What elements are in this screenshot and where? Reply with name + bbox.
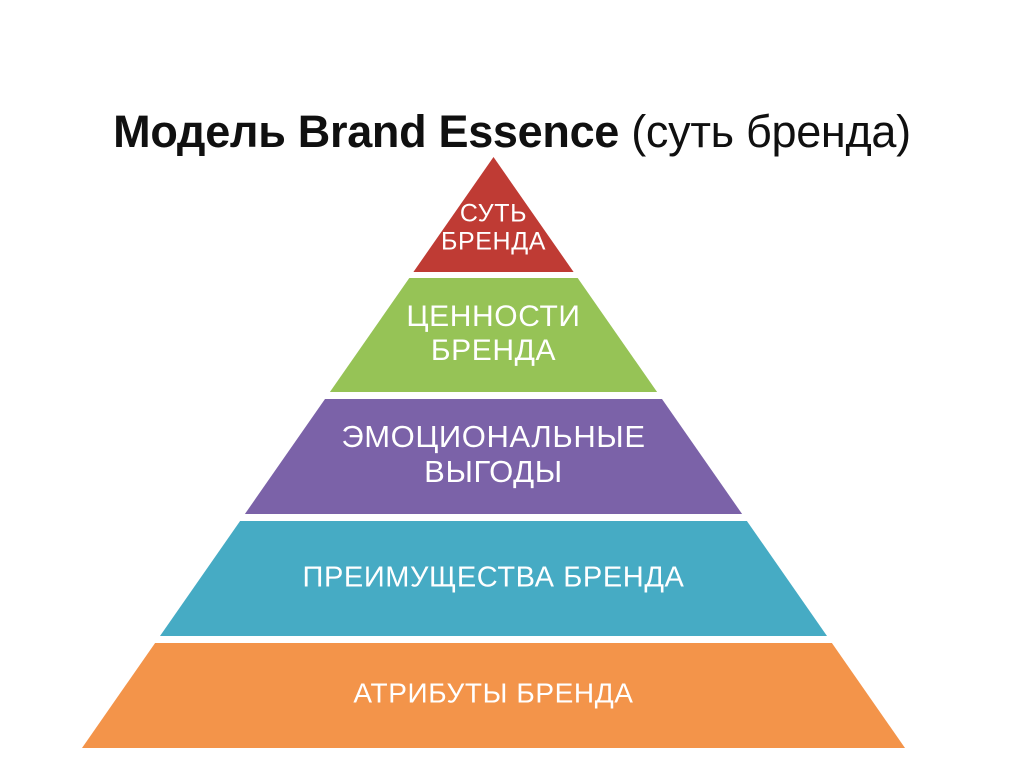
brand-essence-pyramid: СУТЬБРЕНДАЦЕННОСТИБРЕНДАЭМОЦИОНАЛЬНЫЕВЫГ… bbox=[0, 0, 1024, 767]
slide-canvas: Модель Brand Essence (суть бренда) СУТЬБ… bbox=[0, 0, 1024, 767]
pyramid-tier-label-2: ЦЕННОСТИБРЕНДА bbox=[406, 300, 580, 367]
pyramid-svg: СУТЬБРЕНДАЦЕННОСТИБРЕНДАЭМОЦИОНАЛЬНЫЕВЫГ… bbox=[0, 0, 1024, 767]
tier-label-line: АТРИБУТЫ БРЕНДА bbox=[353, 678, 633, 709]
tier-label-line: БРЕНДА bbox=[441, 227, 546, 255]
tier-label-line: ВЫГОДЫ bbox=[424, 454, 563, 489]
tier-label-line: СУТЬ bbox=[460, 199, 527, 227]
pyramid-tier-label-4: ПРЕИМУЩЕСТВА БРЕНДА bbox=[303, 561, 685, 593]
tier-label-line: ЦЕННОСТИ bbox=[406, 300, 580, 333]
tier-label-line: ПРЕИМУЩЕСТВА БРЕНДА bbox=[303, 561, 685, 593]
tier-label-line: ЭМОЦИОНАЛЬНЫЕ bbox=[341, 419, 645, 454]
pyramid-tier-label-1: СУТЬБРЕНДА bbox=[441, 199, 546, 255]
pyramid-tier-label-5: АТРИБУТЫ БРЕНДА bbox=[353, 678, 633, 709]
tier-label-line: БРЕНДА bbox=[431, 334, 556, 367]
